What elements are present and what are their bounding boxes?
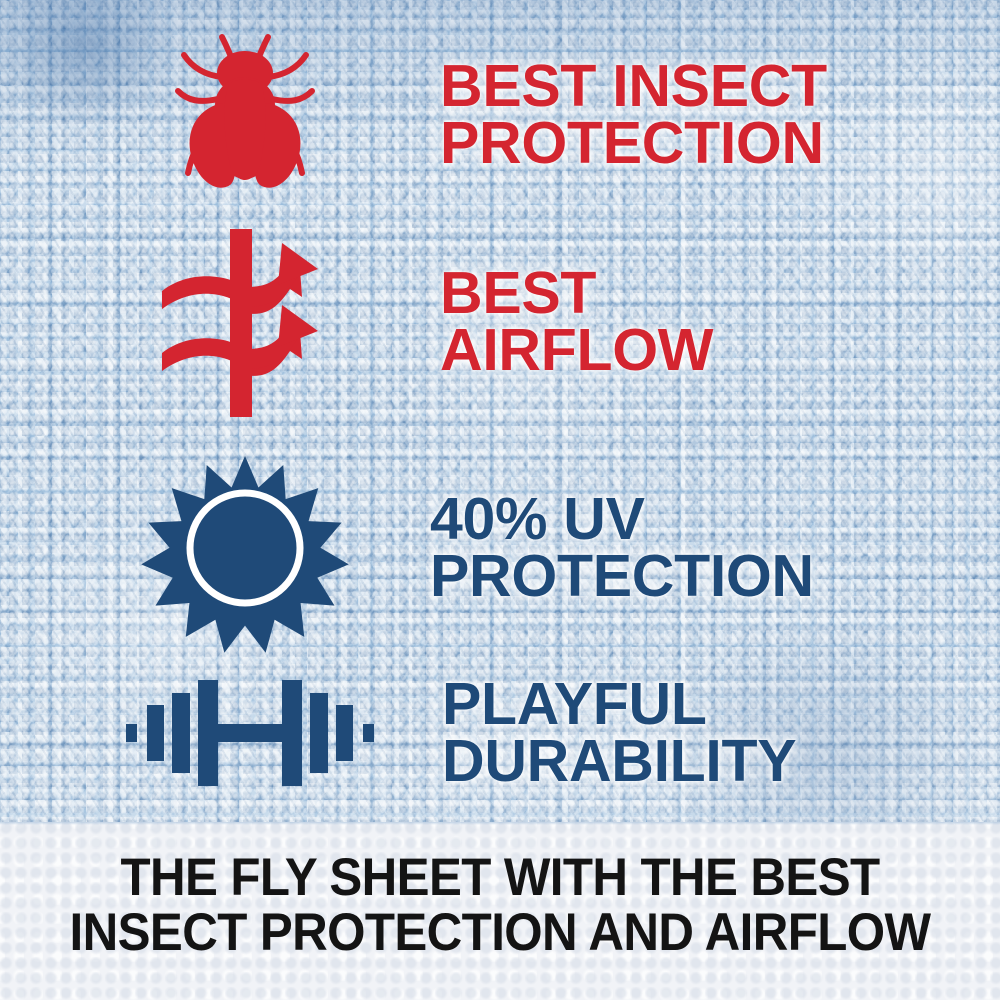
feature-row-uv-protection: 40% UV PROTECTION bbox=[150, 440, 990, 655]
feature-row-durability: PLAYFUL DURABILITY bbox=[120, 650, 990, 815]
poster-headline: THE FLY SHEET WITH THE BEST INSECT PROTE… bbox=[35, 850, 965, 960]
feature-row-insect-protection: BEST INSECT PROTECTION bbox=[150, 20, 990, 210]
sun-uv-icon-container bbox=[150, 440, 340, 655]
headline-band-edge bbox=[0, 822, 1000, 825]
feature-label-insect-protection: BEST INSECT PROTECTION bbox=[440, 58, 827, 171]
feature-label-uv-protection: 40% UV PROTECTION bbox=[430, 491, 814, 604]
fly-icon bbox=[160, 25, 330, 205]
dumbbell-icon bbox=[120, 668, 380, 798]
sun-uv-icon bbox=[145, 448, 345, 648]
product-feature-poster: BEST INSECT PROTECTION BEST bbox=[0, 0, 1000, 1000]
feature-row-airflow: BEST AIRFLOW bbox=[150, 222, 990, 422]
dumbbell-icon-container bbox=[120, 650, 380, 815]
airflow-icon-container bbox=[150, 222, 340, 422]
feature-label-durability: PLAYFUL DURABILITY bbox=[442, 676, 796, 789]
airflow-icon bbox=[150, 225, 340, 420]
feature-label-airflow: BEST AIRFLOW bbox=[440, 265, 713, 378]
fly-icon-container bbox=[150, 20, 340, 210]
